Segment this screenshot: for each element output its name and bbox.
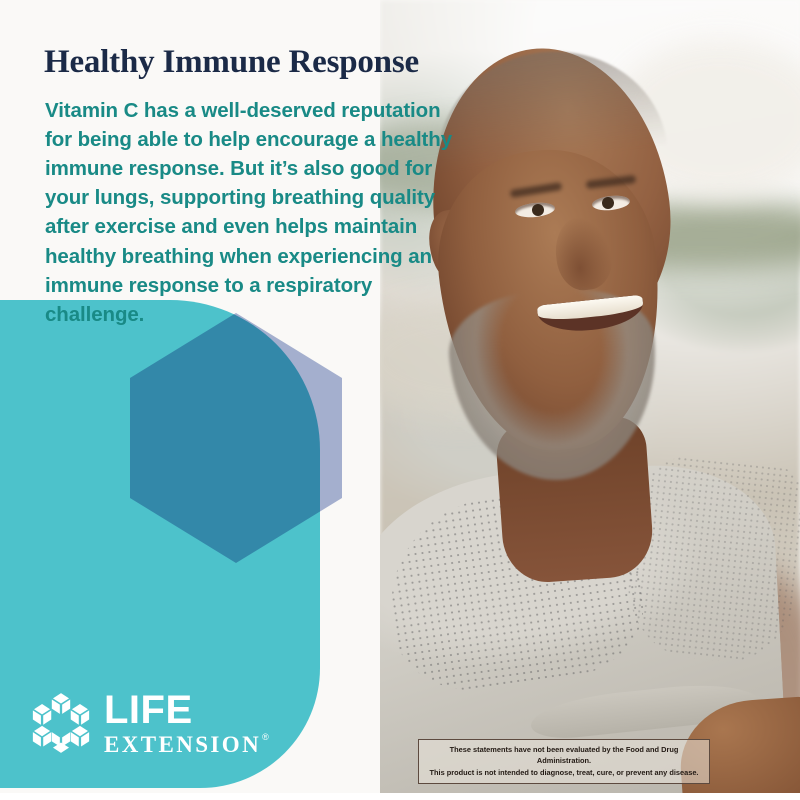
logo-extension-row: EXTENSION ® — [104, 730, 269, 756]
pupil — [602, 197, 614, 209]
pupil — [532, 204, 544, 216]
hexagonal-snowflake-icon — [32, 692, 90, 754]
page-title: Healthy Immune Response — [44, 44, 474, 82]
body-paragraph: Vitamin C has a well-deserved reputation… — [45, 96, 470, 329]
bottom-edge-strip — [0, 793, 800, 800]
logo-wordmark: LIFE EXTENSION ® — [104, 690, 269, 756]
brand-logo: LIFE EXTENSION ® — [32, 690, 269, 756]
fda-disclaimer: These statements have not been evaluated… — [418, 739, 710, 784]
logo-life-text: LIFE — [104, 690, 269, 730]
registered-trademark-icon: ® — [262, 733, 269, 742]
product-banner: Healthy Immune Response Vitamin C has a … — [0, 0, 800, 800]
disclaimer-line-1: These statements have not been evaluated… — [425, 744, 703, 767]
logo-extension-text: EXTENSION — [104, 733, 261, 756]
disclaimer-line-2: This product is not intended to diagnose… — [425, 767, 703, 778]
